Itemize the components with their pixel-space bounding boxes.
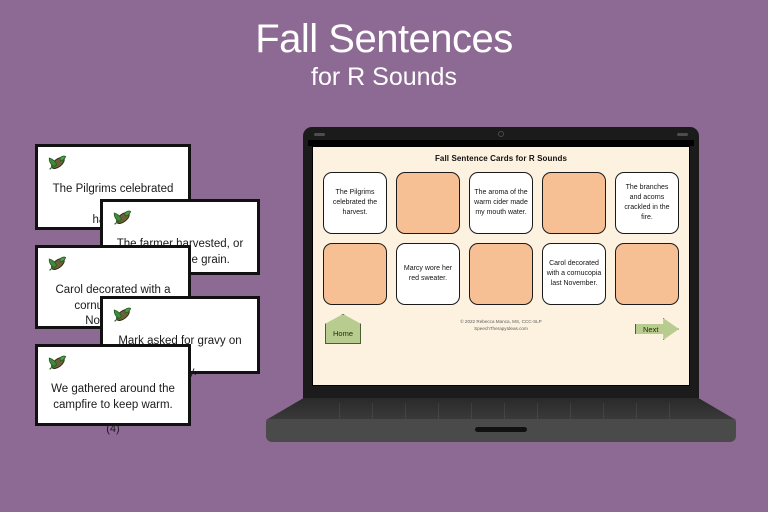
next-button[interactable]: Next	[635, 318, 679, 340]
keyboard-seam	[405, 403, 406, 420]
sentence-card-text: Marcy wore her red sweater.	[400, 264, 456, 284]
sentence-card[interactable]: The Pilgrims celebrated the harvest.	[323, 172, 387, 234]
printed-card-stack: The Pilgrims celebrated the harvest.The …	[0, 0, 280, 512]
sentence-card-text: Carol decorated with a cornucopia last N…	[546, 259, 602, 289]
corn-icon	[46, 153, 180, 178]
keyboard-seam	[339, 403, 340, 420]
sentence-card-text: The aroma of the warm cider made my mout…	[473, 188, 529, 218]
printed-card-text: We gathered around the campfire to keep …	[46, 382, 180, 413]
sentence-card-row: The Pilgrims celebrated the harvest.The …	[323, 172, 679, 234]
copyright-line-2: SpeechTherapyIdeas.com	[460, 326, 542, 333]
sentence-card-blank[interactable]	[396, 172, 460, 234]
home-button-label: Home	[333, 329, 353, 338]
sentence-card[interactable]: Marcy wore her red sweater.	[396, 243, 460, 305]
keyboard-seam	[504, 403, 505, 420]
sentence-card-blank[interactable]	[469, 243, 533, 305]
slide-footer: Home © 2022 Rebecca Manca, MS, CCC-SLP S…	[323, 314, 679, 381]
bezel-dash-right-icon	[677, 133, 688, 136]
corn-icon	[46, 254, 180, 279]
copyright-notice: © 2022 Rebecca Manca, MS, CCC-SLP Speech…	[460, 319, 542, 333]
sentence-card[interactable]: The branches and acorns crackled in the …	[615, 172, 679, 234]
laptop-lid: Fall Sentence Cards for R Sounds The Pil…	[303, 127, 699, 405]
bezel-dash-left-icon	[314, 133, 325, 136]
sentence-card[interactable]: The aroma of the warm cider made my mout…	[469, 172, 533, 234]
laptop-latch-notch	[475, 427, 527, 432]
sentence-card-text: The branches and acorns crackled in the …	[619, 183, 675, 224]
keyboard-seam	[372, 403, 373, 420]
slide-title: Fall Sentence Cards for R Sounds	[323, 154, 679, 163]
laptop-screen: Fall Sentence Cards for R Sounds The Pil…	[312, 146, 690, 386]
laptop-keyboard-deck	[266, 398, 736, 420]
home-button[interactable]: Home	[325, 314, 361, 344]
sentence-card-blank[interactable]	[542, 172, 606, 234]
corn-icon	[111, 208, 249, 233]
corn-icon	[46, 353, 180, 378]
webcam-icon	[498, 131, 504, 137]
keyboard-seam	[438, 403, 439, 420]
printed-card-page-number: (4)	[46, 423, 180, 435]
sentence-card-row: Marcy wore her red sweater.Carol decorat…	[323, 243, 679, 305]
keyboard-seam	[636, 403, 637, 420]
next-button-label: Next	[643, 325, 658, 334]
laptop-top-bezel	[303, 127, 699, 140]
laptop-front-edge	[266, 419, 736, 442]
sentence-card[interactable]: Carol decorated with a cornucopia last N…	[542, 243, 606, 305]
keyboard-seam	[570, 403, 571, 420]
corn-icon	[111, 305, 249, 330]
keyboard-seam	[603, 403, 604, 420]
sentence-card-blank[interactable]	[615, 243, 679, 305]
sentence-card-text: The Pilgrims celebrated the harvest.	[327, 188, 383, 218]
printed-sentence-card: We gathered around the campfire to keep …	[35, 344, 191, 426]
keyboard-seam	[471, 403, 472, 420]
keyboard-seam	[537, 403, 538, 420]
copyright-line-1: © 2022 Rebecca Manca, MS, CCC-SLP	[460, 319, 542, 326]
laptop-mockup: Fall Sentence Cards for R Sounds The Pil…	[266, 127, 736, 442]
sentence-card-grid: The Pilgrims celebrated the harvest.The …	[323, 172, 679, 314]
keyboard-seam	[669, 403, 670, 420]
sentence-card-blank[interactable]	[323, 243, 387, 305]
